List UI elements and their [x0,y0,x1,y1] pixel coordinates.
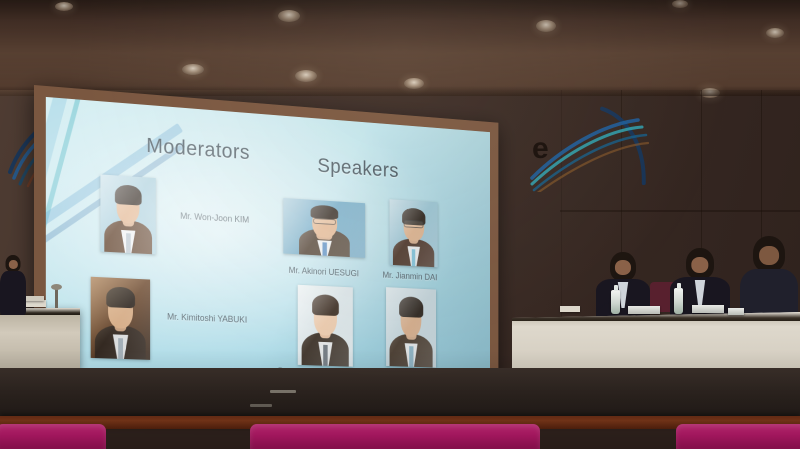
portrait-speaker-3 [298,285,353,367]
downlight [536,20,556,32]
conference-hall-photo: 2 e [0,0,800,449]
slide-heading-speakers: Speakers [317,155,398,183]
wall-logo-right: e [518,100,668,192]
slide-heading-moderators: Moderators [146,134,250,165]
water-bottle [611,290,620,314]
microphone [55,288,58,308]
downlight [278,10,300,22]
documents [24,296,44,301]
documents [560,306,580,312]
microphone-head-icon [51,284,62,290]
floor-marking [250,404,272,407]
nameplate [692,305,724,313]
caption-speaker-2: Mr. Jianmin DAI [383,270,438,282]
downlight [404,78,424,89]
downlight [182,64,204,75]
portrait-speaker-2 [390,199,438,267]
downlight [766,28,784,38]
person-left [0,255,26,313]
nameplate [628,306,660,314]
caption-moderator-2: Mr. Kimitoshi YABUKI [167,312,247,325]
downlight [672,0,688,8]
downlight [295,70,317,82]
auditorium-seat [676,424,800,449]
caption-speaker-1: Mr. Akinori UESUGI [289,265,359,278]
water-bottle [674,288,683,314]
auditorium-seat [250,424,540,449]
left-table [0,308,80,370]
floor-marking [270,390,296,393]
projection-screen: Moderators Speakers Mr. Won-Joon KIM [46,97,490,404]
portrait-moderator-1 [100,174,155,254]
downlight [55,2,73,11]
auditorium-seat [0,424,106,449]
portrait-speaker-4 [386,287,436,367]
ceiling [0,0,800,96]
wall-logo-right-symbol: e [532,132,549,166]
caption-moderator-1: Mr. Won-Joon KIM [180,211,249,225]
projection-screen-frame: Moderators Speakers Mr. Won-Joon KIM [34,85,498,417]
nameplate [728,308,744,315]
portrait-moderator-2 [91,277,150,360]
portrait-speaker-1 [283,198,365,258]
